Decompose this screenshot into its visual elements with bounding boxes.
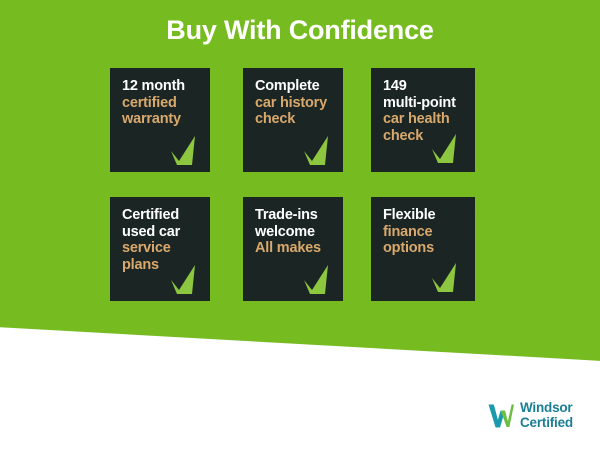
card-line-white: multi-point	[383, 95, 465, 112]
feature-card-flexible-finance[interactable]: Flexible finance options	[371, 197, 475, 301]
logo-line-certified: Certified	[520, 415, 573, 430]
card-line-white: Flexible	[383, 207, 465, 224]
windsor-w-icon	[487, 401, 515, 429]
card-line-white: Trade-ins	[255, 207, 333, 224]
check-icon	[301, 263, 331, 297]
card-line-white: welcome	[255, 224, 333, 241]
logo-wordmark: Windsor Certified	[520, 400, 573, 430]
card-line-accent: service	[122, 240, 200, 257]
card-line-accent: All makes	[255, 240, 333, 257]
card-text: Trade-ins welcome All makes	[255, 207, 333, 257]
feature-card-car-history-check[interactable]: Complete car history check	[243, 68, 343, 172]
card-line-accent: car history	[255, 95, 333, 112]
page-title: Buy With Confidence	[0, 14, 600, 47]
card-line-white: 12 month	[122, 78, 200, 95]
card-text: Complete car history check	[255, 78, 333, 128]
card-line-white: used car	[122, 224, 200, 241]
logo-line-windsor: Windsor	[520, 400, 573, 415]
feature-card-multi-point-health-check[interactable]: 149 multi-point car health check	[371, 68, 475, 172]
card-line-white: Complete	[255, 78, 333, 95]
promo-banner: Buy With Confidence 12 month certified w…	[0, 0, 600, 450]
check-icon	[429, 261, 459, 295]
card-line-accent: certified	[122, 95, 200, 112]
feature-card-certified-warranty[interactable]: 12 month certified warranty	[110, 68, 210, 172]
check-icon	[168, 263, 198, 297]
card-line-white: Certified	[122, 207, 200, 224]
card-line-accent: warranty	[122, 111, 200, 128]
feature-card-service-plans[interactable]: Certified used car service plans	[110, 197, 210, 301]
check-icon	[168, 134, 198, 168]
card-line-accent: finance	[383, 224, 465, 241]
windsor-certified-logo[interactable]: Windsor Certified	[487, 399, 587, 433]
card-text: 12 month certified warranty	[122, 78, 200, 128]
check-icon	[301, 134, 331, 168]
card-line-accent: car health	[383, 111, 465, 128]
card-text: Flexible finance options	[383, 207, 465, 257]
green-background-shape	[0, 0, 600, 365]
check-icon	[429, 132, 459, 166]
card-line-accent: check	[255, 111, 333, 128]
feature-card-trade-ins[interactable]: Trade-ins welcome All makes	[243, 197, 343, 301]
card-line-accent: options	[383, 240, 465, 257]
card-line-white: 149	[383, 78, 465, 95]
